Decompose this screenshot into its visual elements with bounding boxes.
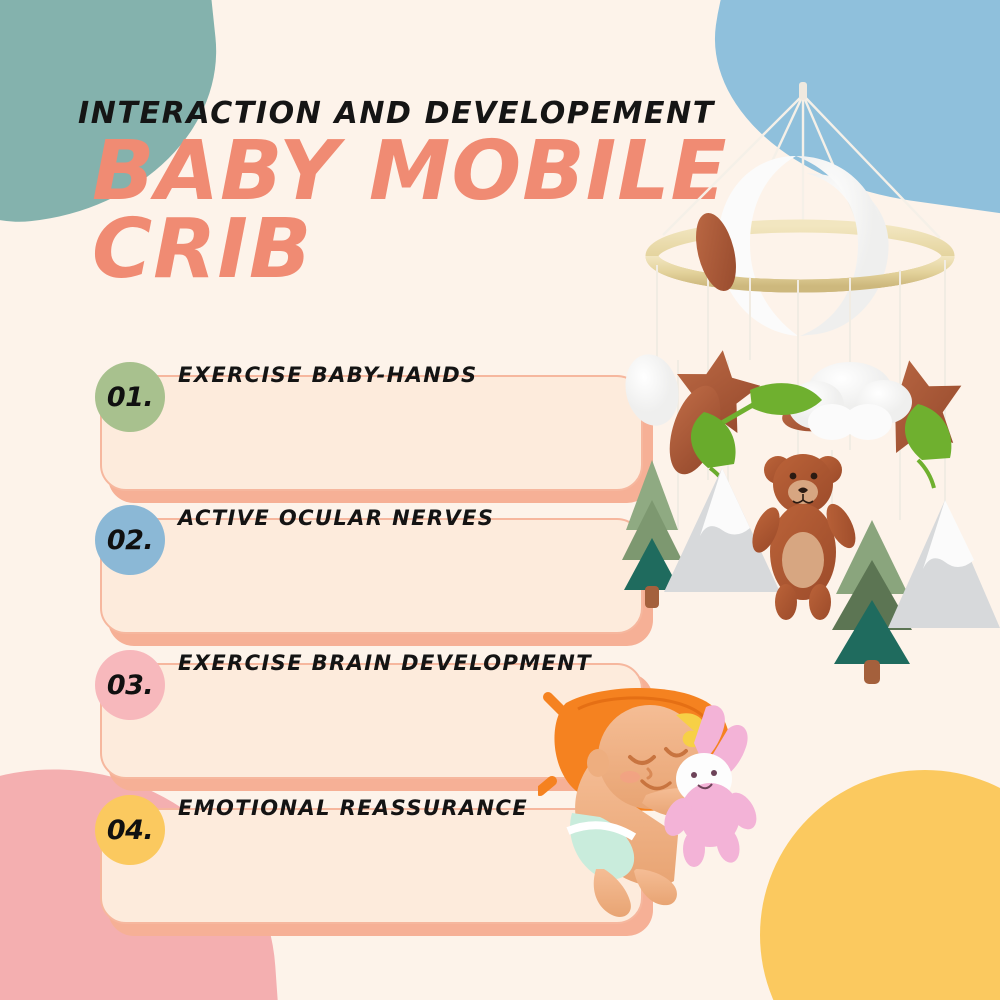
mobile-svg (600, 60, 1000, 720)
string-knot (799, 82, 807, 100)
poster-canvas: INTERACTION AND DEVELOPEMENT BABY MOBILE… (0, 0, 1000, 1000)
list-item-badge[interactable]: 02. (95, 505, 165, 575)
baby-svg (538, 685, 778, 920)
ear (587, 749, 609, 777)
list-item-badge[interactable]: 01. (95, 362, 165, 432)
list-item-label: EMOTIONAL REASSURANCE (178, 796, 528, 820)
list-item-label: EXERCISE BRAIN DEVELOPMENT (178, 651, 592, 675)
list-item-badge[interactable]: 04. (95, 795, 165, 865)
sleeping-baby-with-bunny (538, 685, 778, 920)
moon-ornament-body (796, 156, 882, 336)
bottom-right-circle (760, 770, 1000, 1000)
list-item-label: ACTIVE OCULAR NERVES (178, 506, 494, 530)
wooden-ring-front (652, 256, 948, 286)
cheek (620, 771, 640, 783)
mountain-ornament (888, 500, 1000, 628)
list-item-badge[interactable]: 03. (95, 650, 165, 720)
baby-mobile-crib-photo (600, 60, 1000, 720)
card-surface (100, 518, 643, 634)
bear-ornament (747, 454, 862, 620)
list-item-label: EXERCISE BABY-HANDS (178, 363, 478, 387)
card-surface (100, 375, 643, 491)
white-oval-ornament (619, 349, 685, 430)
